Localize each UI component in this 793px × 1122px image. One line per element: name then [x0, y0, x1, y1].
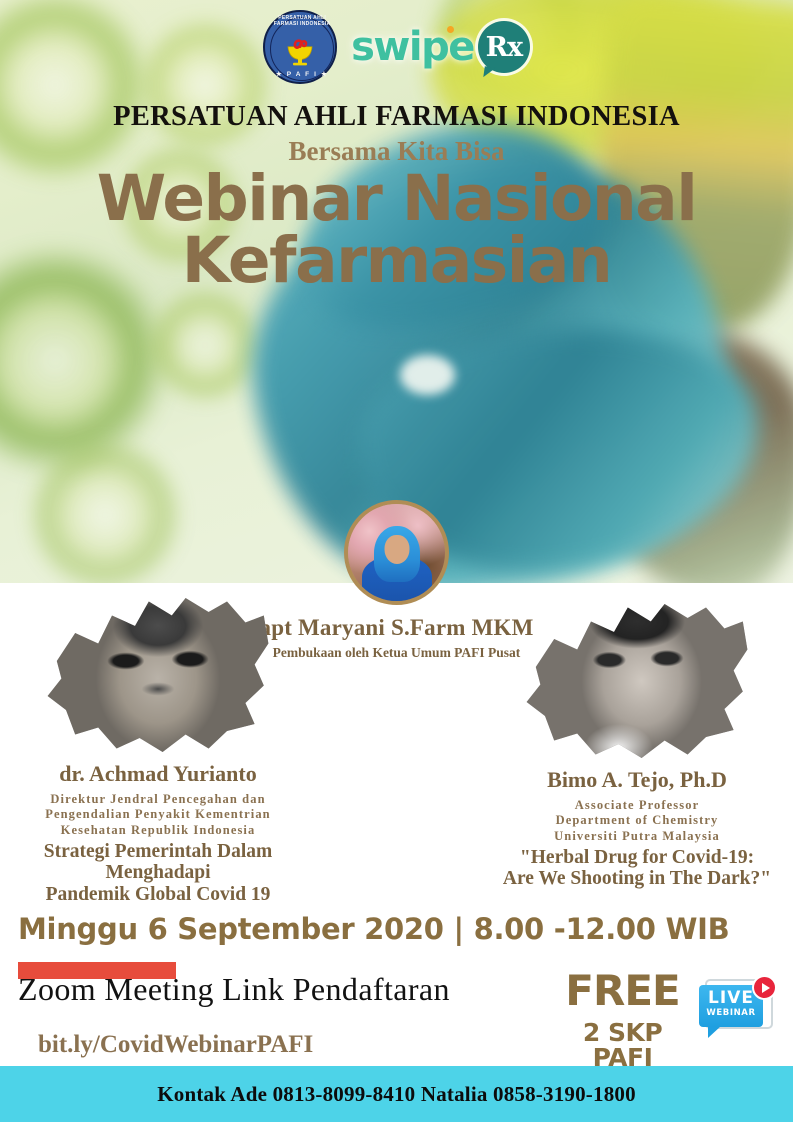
page-title-line2: Kefarmasian: [0, 230, 793, 292]
right-speaker-name: Bimo A. Tejo, Ph.D: [487, 767, 787, 793]
live-webinar-badge: LIVE WEBINAR: [697, 975, 777, 1041]
left-affiliation-line1: Direktur Jendral Pencegahan dan: [8, 792, 308, 807]
right-affiliation-line3: Universiti Putra Malaysia: [487, 829, 787, 844]
right-speaker-affiliation: Associate Professor Department of Chemis…: [487, 798, 787, 844]
right-affiliation-line2: Department of Chemistry: [487, 813, 787, 828]
right-topic-line1: "Herbal Drug for Covid-19:: [487, 847, 787, 868]
contact-bar: Kontak Ade 0813-8099-8410 Natalia 0858-3…: [0, 1066, 793, 1122]
left-topic-line1: Strategi Pemerintah Dalam Menghadapi: [8, 841, 308, 884]
swiperx-wordmark: swipe: [351, 27, 474, 67]
right-affiliation-line1: Associate Professor: [487, 798, 787, 813]
avatar-face: [384, 535, 409, 564]
swiperx-dot-icon: [447, 26, 454, 33]
left-speaker-name: dr. Achmad Yurianto: [8, 761, 308, 787]
left-affiliation-line3: Kesehatan Republik Indonesia: [8, 823, 308, 838]
bowl-of-hygieia-icon: [282, 33, 318, 67]
price-free-label: FREE: [555, 970, 690, 1012]
left-speaker-affiliation: Direktur Jendral Pencegahan dan Pengenda…: [8, 792, 308, 838]
live-badge-line2: WEBINAR: [699, 1009, 763, 1018]
contact-text: Kontak Ade 0813-8099-8410 Natalia 0858-3…: [157, 1082, 636, 1107]
left-affiliation-line2: Pengendalian Penyakit Kementrian: [8, 807, 308, 822]
left-topic-line2: Pandemik Global Covid 19: [8, 884, 308, 905]
page-title: Webinar Nasional Kefarmasian: [0, 168, 793, 291]
skp-credits-label: 2 SKP PAFI: [555, 1020, 690, 1070]
swiperx-word-text: swipe: [351, 24, 474, 70]
right-speaker-topic: "Herbal Drug for Covid-19: Are We Shooti…: [487, 847, 787, 890]
pafi-logo-arc-top: PERSATUAN AHLI FARMASI INDONESIA: [265, 15, 339, 27]
portrait-bimo-tejo: [522, 590, 752, 765]
pafi-logo-arc-bottom: ★ P A F I ★: [265, 70, 339, 78]
speaker-right: Bimo A. Tejo, Ph.D Associate Professor D…: [487, 590, 787, 890]
registration-label: Zoom Meeting Link Pendaftaran: [18, 971, 450, 1008]
speaker-left: dr. Achmad Yurianto Direktur Jendral Pen…: [8, 584, 308, 905]
portrait-achmad-yurianto: [43, 584, 273, 759]
organization-name: PERSATUAN AHLI FARMASI INDONESIA: [0, 101, 793, 133]
rx-speech-bubble-icon: Rx: [478, 21, 530, 73]
portrait-brush-mask: [522, 590, 752, 765]
logo-row: PERSATUAN AHLI FARMASI INDONESIA ★ P A F…: [0, 8, 793, 86]
rx-label: Rx: [486, 34, 523, 61]
registration-link[interactable]: bit.ly/CovidWebinarPAFI: [38, 1031, 313, 1059]
price-block: FREE 2 SKP PAFI: [555, 970, 690, 1070]
left-speaker-topic: Strategi Pemerintah Dalam Menghadapi Pan…: [8, 841, 308, 905]
portrait-brush-mask: [43, 584, 273, 759]
swiperx-logo: swipe Rx: [351, 21, 530, 73]
event-datetime: Minggu 6 September 2020 | 8.00 -12.00 WI…: [18, 912, 729, 946]
webinar-poster: PERSATUAN AHLI FARMASI INDONESIA ★ P A F…: [0, 0, 793, 1122]
virus-particle-icon: [150, 290, 260, 400]
glove-highlight: [400, 355, 455, 395]
play-button-icon: [752, 975, 777, 1000]
right-topic-line2: Are We Shooting in The Dark?": [487, 868, 787, 889]
pafi-logo: PERSATUAN AHLI FARMASI INDONESIA ★ P A F…: [263, 10, 337, 84]
avatar-maryani: [344, 500, 449, 605]
